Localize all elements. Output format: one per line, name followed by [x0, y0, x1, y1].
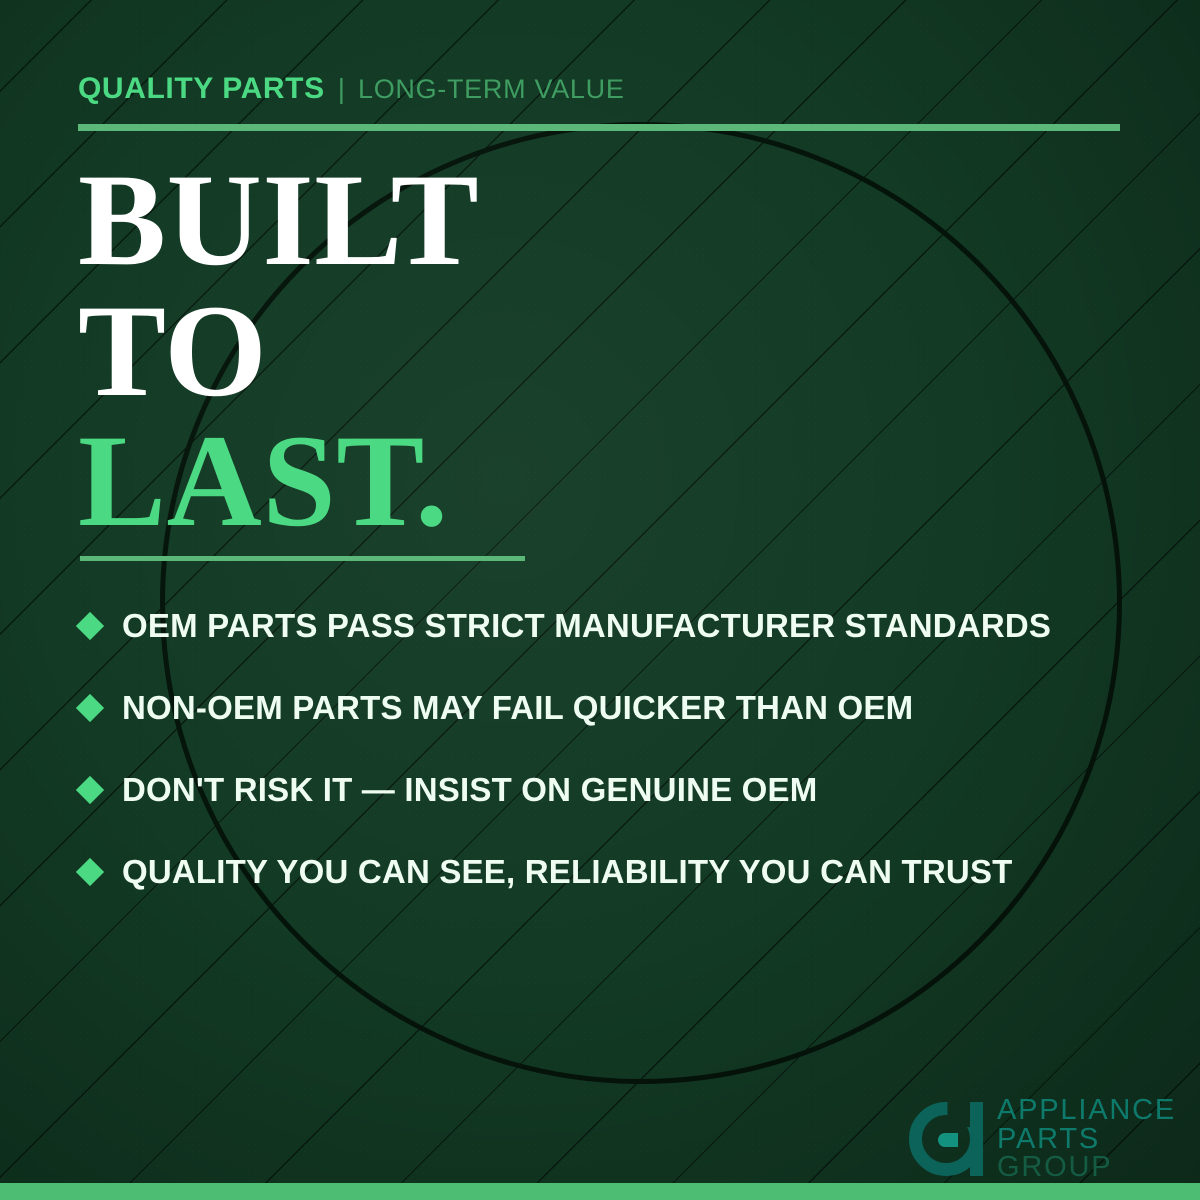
- poster-canvas: QUALITY PARTS | LONG-TERM VALUE BUILT TO…: [0, 0, 1200, 1200]
- list-item: DON'T RISK IT — INSIST ON GENUINE OEM: [80, 749, 1150, 831]
- diamond-bullet-icon: [76, 612, 104, 640]
- bottom-accent-bar: [0, 1183, 1200, 1200]
- headline-divider-rule: [80, 556, 525, 561]
- benefits-list: OEM PARTS PASS STRICT MANUFACTURER STAND…: [80, 585, 1150, 913]
- brand-logo: APPLIANCE PARTS GROUP: [909, 1096, 1176, 1182]
- header-divider-rule: [78, 124, 1120, 131]
- brand-wordmark: APPLIANCE PARTS GROUP: [997, 1096, 1176, 1182]
- list-item: OEM PARTS PASS STRICT MANUFACTURER STAND…: [80, 585, 1150, 667]
- g-monogram-icon: [909, 1102, 983, 1176]
- kicker-sub-label: LONG-TERM VALUE: [358, 74, 625, 105]
- kicker-main-label: QUALITY PARTS: [78, 72, 325, 106]
- diamond-bullet-icon: [76, 858, 104, 886]
- g-tongue-shape: [938, 1133, 958, 1147]
- list-item-label: QUALITY YOU CAN SEE, RELIABILITY YOU CAN…: [122, 853, 1013, 891]
- kicker-separator: |: [338, 73, 345, 105]
- list-item-label: OEM PARTS PASS STRICT MANUFACTURER STAND…: [122, 607, 1051, 645]
- headline-line-3: LAST.: [78, 416, 479, 547]
- g-stem-shape: [970, 1102, 983, 1176]
- list-item: QUALITY YOU CAN SEE, RELIABILITY YOU CAN…: [80, 831, 1150, 913]
- diamond-bullet-icon: [76, 776, 104, 804]
- list-item-label: NON-OEM PARTS MAY FAIL QUICKER THAN OEM: [122, 689, 913, 727]
- list-item-label: DON'T RISK IT — INSIST ON GENUINE OEM: [122, 771, 817, 809]
- brand-line-3: GROUP: [997, 1153, 1176, 1182]
- list-item: NON-OEM PARTS MAY FAIL QUICKER THAN OEM: [80, 667, 1150, 749]
- headline-block: BUILT TO LAST.: [78, 155, 479, 547]
- diamond-bullet-icon: [76, 694, 104, 722]
- brand-line-1: APPLIANCE: [997, 1096, 1176, 1125]
- kicker-eyebrow: QUALITY PARTS | LONG-TERM VALUE: [78, 72, 625, 106]
- headline-line-2: TO: [78, 286, 479, 417]
- brand-line-2: PARTS: [997, 1125, 1176, 1154]
- headline-line-1: BUILT: [78, 155, 479, 286]
